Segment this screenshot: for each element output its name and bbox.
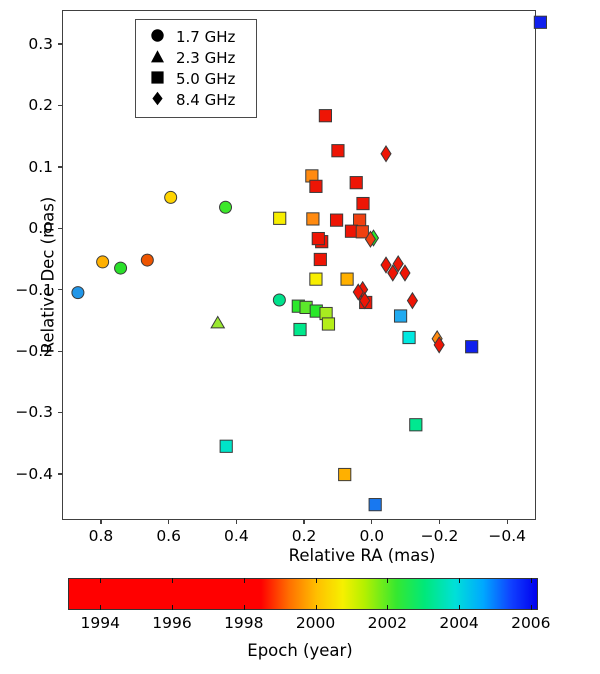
colorbar-tick-mark: [459, 605, 460, 610]
y-tick-label: −0.4: [15, 465, 53, 483]
data-point-square: [314, 253, 326, 265]
colorbar-tick-mark: [316, 605, 317, 610]
colorbar-tick-label: 1996: [152, 614, 191, 632]
x-axis-title: Relative RA (mas): [289, 546, 436, 565]
x-tick-label: −0.4: [488, 527, 526, 545]
legend-item-1: 1.7 GHz: [144, 27, 248, 47]
frequency-legend: 1.7 GHz 2.3 GHz 5.0 GHz 8.4 GHz: [135, 19, 257, 118]
x-tick-mark: [100, 520, 101, 524]
x-tick-mark: [168, 520, 169, 524]
x-tick-label: 0.2: [292, 527, 317, 545]
colorbar-tick-label: 2006: [511, 614, 550, 632]
data-point-square: [341, 273, 353, 285]
colorbar-tick-mark: [100, 578, 101, 583]
y-tick-mark: [58, 105, 62, 106]
x-tick-label: −0.2: [421, 527, 459, 545]
colorbar-tick-mark: [459, 578, 460, 583]
colorbar-tick-mark: [316, 578, 317, 583]
data-point-square: [322, 318, 334, 330]
colorbar-tick-mark: [100, 605, 101, 610]
x-tick-label: 0.8: [89, 527, 114, 545]
y-tick-mark: [58, 166, 62, 167]
data-point-square: [357, 197, 369, 209]
colorbar-tick-mark: [387, 578, 388, 583]
data-point-square: [354, 214, 366, 226]
y-tick-label: −0.3: [15, 403, 53, 421]
scatter-plot-panel: 1.7 GHz 2.3 GHz 5.0 GHz 8.4 GHz: [62, 10, 536, 520]
y-tick-mark: [58, 351, 62, 352]
data-point-square: [466, 341, 478, 353]
colorbar-tick-label: 2002: [368, 614, 407, 632]
data-point-square: [394, 310, 406, 322]
y-tick-mark: [58, 412, 62, 413]
data-point-diamond: [400, 265, 410, 281]
x-tick-label: 0.0: [359, 527, 384, 545]
diamond-marker-icon: [144, 91, 170, 110]
data-point-circle: [273, 294, 285, 306]
y-tick-mark: [58, 228, 62, 229]
data-point-square: [310, 180, 322, 192]
data-point-square: [356, 226, 368, 238]
data-point-diamond: [381, 146, 391, 162]
data-point-circle: [165, 191, 177, 203]
colorbar-tick-mark: [172, 578, 173, 583]
x-tick-label: 0.4: [224, 527, 249, 545]
figure-root: 1.7 GHz 2.3 GHz 5.0 GHz 8.4 GHz: [0, 0, 600, 674]
x-tick-mark: [371, 520, 372, 524]
x-tick-mark: [236, 520, 237, 524]
data-point-square: [332, 145, 344, 157]
x-tick-mark: [507, 520, 508, 524]
y-axis-title: Relative Dec (mas): [39, 145, 58, 405]
y-tick-mark: [58, 473, 62, 474]
data-point-square: [294, 323, 306, 335]
data-point-square: [339, 468, 351, 480]
legend-label: 5.0 GHz: [170, 70, 235, 88]
data-point-square: [350, 177, 362, 189]
colorbar-tick-mark: [172, 605, 173, 610]
legend-label: 8.4 GHz: [170, 91, 235, 109]
colorbar-tick-mark: [244, 605, 245, 610]
data-point-circle: [72, 287, 84, 299]
y-tick-mark: [58, 289, 62, 290]
colorbar-tick-label: 2000: [296, 614, 335, 632]
colorbar-tick-mark: [244, 578, 245, 583]
data-point-square: [369, 499, 381, 511]
data-point-square: [330, 214, 342, 226]
data-point-circle: [97, 256, 109, 268]
colorbar-tick-label: 2004: [439, 614, 478, 632]
data-point-square: [319, 110, 331, 122]
colorbar-tick-label: 1994: [81, 614, 120, 632]
legend-item-2: 2.3 GHz: [144, 48, 248, 68]
data-point-square: [410, 419, 422, 431]
data-point-square: [307, 213, 319, 225]
data-point-square: [220, 440, 232, 452]
legend-label: 2.3 GHz: [170, 49, 235, 67]
data-point-square: [403, 331, 415, 343]
data-point-triangle: [211, 317, 224, 328]
data-point-square: [274, 212, 286, 224]
colorbar-tick-label: 1998: [224, 614, 263, 632]
x-tick-mark: [303, 520, 304, 524]
colorbar-tick-mark: [531, 605, 532, 610]
epoch-colorbar: [68, 578, 538, 610]
square-marker-icon: [144, 70, 170, 89]
x-tick-mark: [439, 520, 440, 524]
colorbar-tick-mark: [531, 578, 532, 583]
triangle-marker-icon: [144, 49, 170, 68]
data-point-circle: [141, 254, 153, 266]
scatter-points-layer: [62, 10, 536, 520]
colorbar-gradient: [68, 578, 538, 610]
data-point-square: [312, 232, 324, 244]
circle-marker-icon: [144, 28, 170, 47]
data-point-circle: [115, 262, 127, 274]
y-tick-label: 0.2: [28, 96, 53, 114]
data-point-circle: [220, 201, 232, 213]
colorbar-title: Epoch (year): [247, 641, 352, 660]
legend-item-4: 8.4 GHz: [144, 90, 248, 110]
legend-item-3: 5.0 GHz: [144, 69, 248, 89]
legend-label: 1.7 GHz: [170, 28, 235, 46]
data-point-square: [310, 273, 322, 285]
x-tick-label: 0.6: [156, 527, 181, 545]
y-tick-label: 0.3: [28, 35, 53, 53]
y-tick-mark: [58, 43, 62, 44]
data-point-diamond: [407, 293, 417, 309]
colorbar-tick-mark: [387, 605, 388, 610]
data-point-square: [534, 16, 546, 28]
